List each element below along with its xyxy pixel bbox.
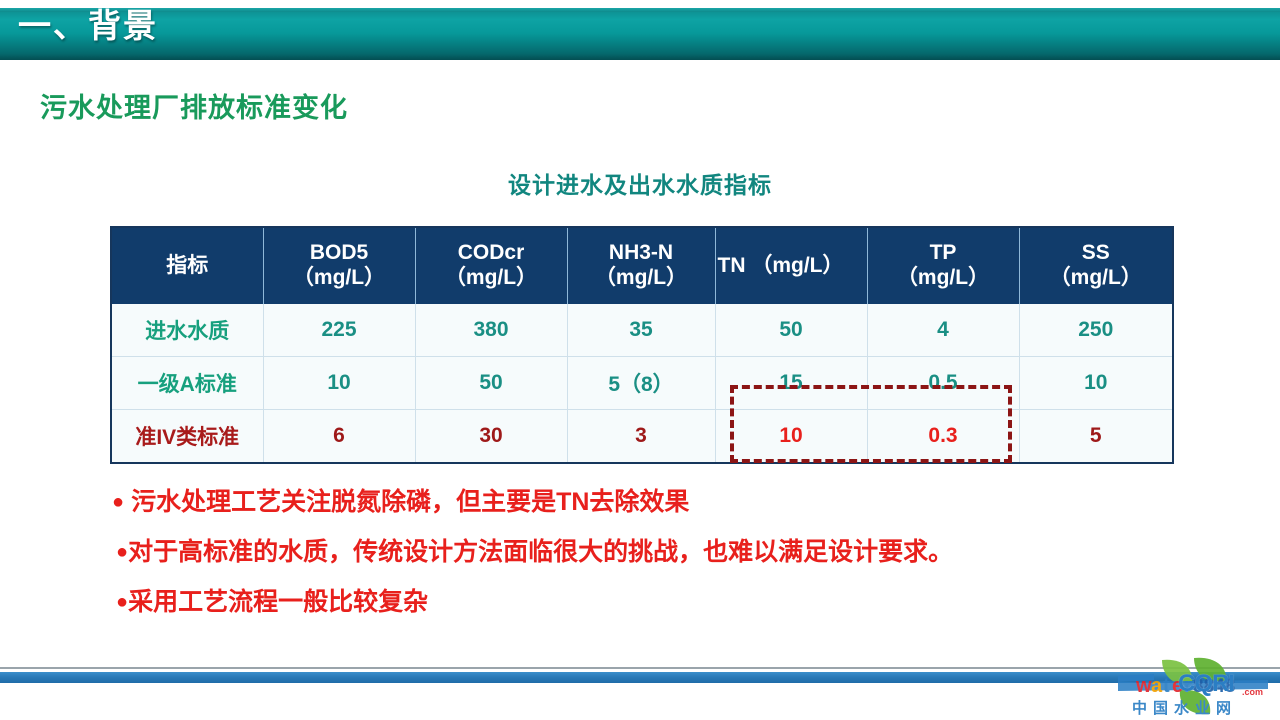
col-header-indicator: 指标 <box>111 227 263 304</box>
header-band-highlight <box>0 8 1280 12</box>
col-header-bod5-unit: （mg/L） <box>293 266 385 289</box>
cell-influent-tn: 50 <box>715 304 867 357</box>
slide-title: 一、背景 <box>18 6 158 46</box>
col-header-nh3n-name: NH3-N <box>609 241 673 264</box>
col-header-tn-name: TN （mg/L） <box>718 254 844 277</box>
col-header-ss-unit: （mg/L） <box>1050 266 1142 289</box>
table-header-row: 指标 BOD5 （mg/L） CODcr （mg/L） NH3-N （mg/L）… <box>111 227 1173 304</box>
col-header-bod5-name: BOD5 <box>310 241 368 264</box>
bullet-text: 对于高标准的水质，传统设计方法面临很大的挑战，也难以满足设计要求。 <box>128 538 953 566</box>
table-row: 一级A标准 10 50 5（8） 15 0.5 10 <box>111 357 1173 410</box>
col-header-tp: TP （mg/L） <box>867 227 1019 304</box>
cell-quasiiv-codcr: 30 <box>415 410 567 464</box>
watermark-dotcom: .com <box>1242 687 1263 697</box>
bullet-dot-icon: ● <box>116 591 128 613</box>
cell-influent-bod5: 225 <box>263 304 415 357</box>
cell-grade1a-ss: 10 <box>1019 357 1173 410</box>
list-item: ●对于高标准的水质，传统设计方法面临很大的挑战，也难以满足设计要求。 <box>116 534 1172 570</box>
col-header-ss: SS （mg/L） <box>1019 227 1173 304</box>
cell-quasiiv-tp: 0.3 <box>867 410 1019 464</box>
cell-quasiiv-ss: 5 <box>1019 410 1173 464</box>
bullet-text: 采用工艺流程一般比较复杂 <box>128 588 428 616</box>
bullet-text: 污水处理工艺关注脱氮除磷，但主要是TN去除效果 <box>131 488 689 516</box>
table-row: 进水水质 225 380 35 50 4 250 <box>111 304 1173 357</box>
col-header-codcr-name: CODcr <box>458 241 525 264</box>
cell-influent-codcr: 380 <box>415 304 567 357</box>
col-header-ss-name: SS <box>1082 241 1110 264</box>
col-header-codcr-unit: （mg/L） <box>445 266 537 289</box>
cell-grade1a-bod5: 10 <box>263 357 415 410</box>
cell-influent-ss: 250 <box>1019 304 1173 357</box>
cell-grade1a-tn: 15 <box>715 357 867 410</box>
cell-quasiiv-nh3n: 3 <box>567 410 715 464</box>
list-item: ●污水处理工艺关注脱氮除磷，但主要是TN去除效果 <box>112 484 1172 520</box>
cell-influent-tp: 4 <box>867 304 1019 357</box>
cell-grade1a-tp: 0.5 <box>867 357 1019 410</box>
slide-header-band <box>0 8 1280 60</box>
col-header-tn: TN （mg/L） <box>715 227 867 304</box>
watermark-brand-en: t <box>1163 675 1170 697</box>
col-header-indicator-name: 指标 <box>166 254 208 277</box>
watermark-brand-en: a <box>1151 675 1163 697</box>
watermark-brand-en: w <box>1135 675 1152 697</box>
col-header-bod5: BOD5 （mg/L） <box>263 227 415 304</box>
table-row: 准IV类标准 6 30 3 10 0.3 5 <box>111 410 1173 464</box>
cell-quasiiv-tn: 10 <box>715 410 867 464</box>
col-header-nh3n-unit: （mg/L） <box>595 266 687 289</box>
cell-quasiiv-bod5: 6 <box>263 410 415 464</box>
row-label-grade-1a: 一级A标准 <box>111 357 263 410</box>
footer-accent-bar <box>0 672 1280 683</box>
bullet-dot-icon: ● <box>112 491 124 513</box>
cell-grade1a-codcr: 50 <box>415 357 567 410</box>
cell-grade1a-nh3n: 5（8） <box>567 357 715 410</box>
table-caption: 设计进水及出水水质指标 <box>0 166 1280 200</box>
section-heading: 污水处理厂排放标准变化 <box>40 86 348 125</box>
table-body: 进水水质 225 380 35 50 4 250 一级A标准 10 50 5（8… <box>111 304 1173 463</box>
col-header-codcr: CODcr （mg/L） <box>415 227 567 304</box>
col-header-nh3n: NH3-N （mg/L） <box>567 227 715 304</box>
row-label-quasi-iv: 准IV类标准 <box>111 410 263 464</box>
list-item: ●采用工艺流程一般比较复杂 <box>116 584 1172 620</box>
bullet-dot-icon: ● <box>116 541 128 563</box>
watermark-overlay-cqri: CQRI <box>1178 670 1234 698</box>
bullet-list: ●污水处理工艺关注脱氮除磷，但主要是TN去除效果 ●对于高标准的水质，传统设计方… <box>112 484 1172 620</box>
table-head: 指标 BOD5 （mg/L） CODcr （mg/L） NH3-N （mg/L）… <box>111 227 1173 304</box>
col-header-tp-unit: （mg/L） <box>897 266 989 289</box>
water-quality-table-wrapper: 指标 BOD5 （mg/L） CODcr （mg/L） NH3-N （mg/L）… <box>110 226 1172 464</box>
water-quality-table: 指标 BOD5 （mg/L） CODcr （mg/L） NH3-N （mg/L）… <box>110 226 1174 464</box>
row-label-influent: 进水水质 <box>111 304 263 357</box>
cell-influent-nh3n: 35 <box>567 304 715 357</box>
watermark-brand-cn: 中国水业网 <box>1132 699 1237 717</box>
col-header-tp-name: TP <box>930 241 957 264</box>
footer-divider <box>0 667 1280 669</box>
